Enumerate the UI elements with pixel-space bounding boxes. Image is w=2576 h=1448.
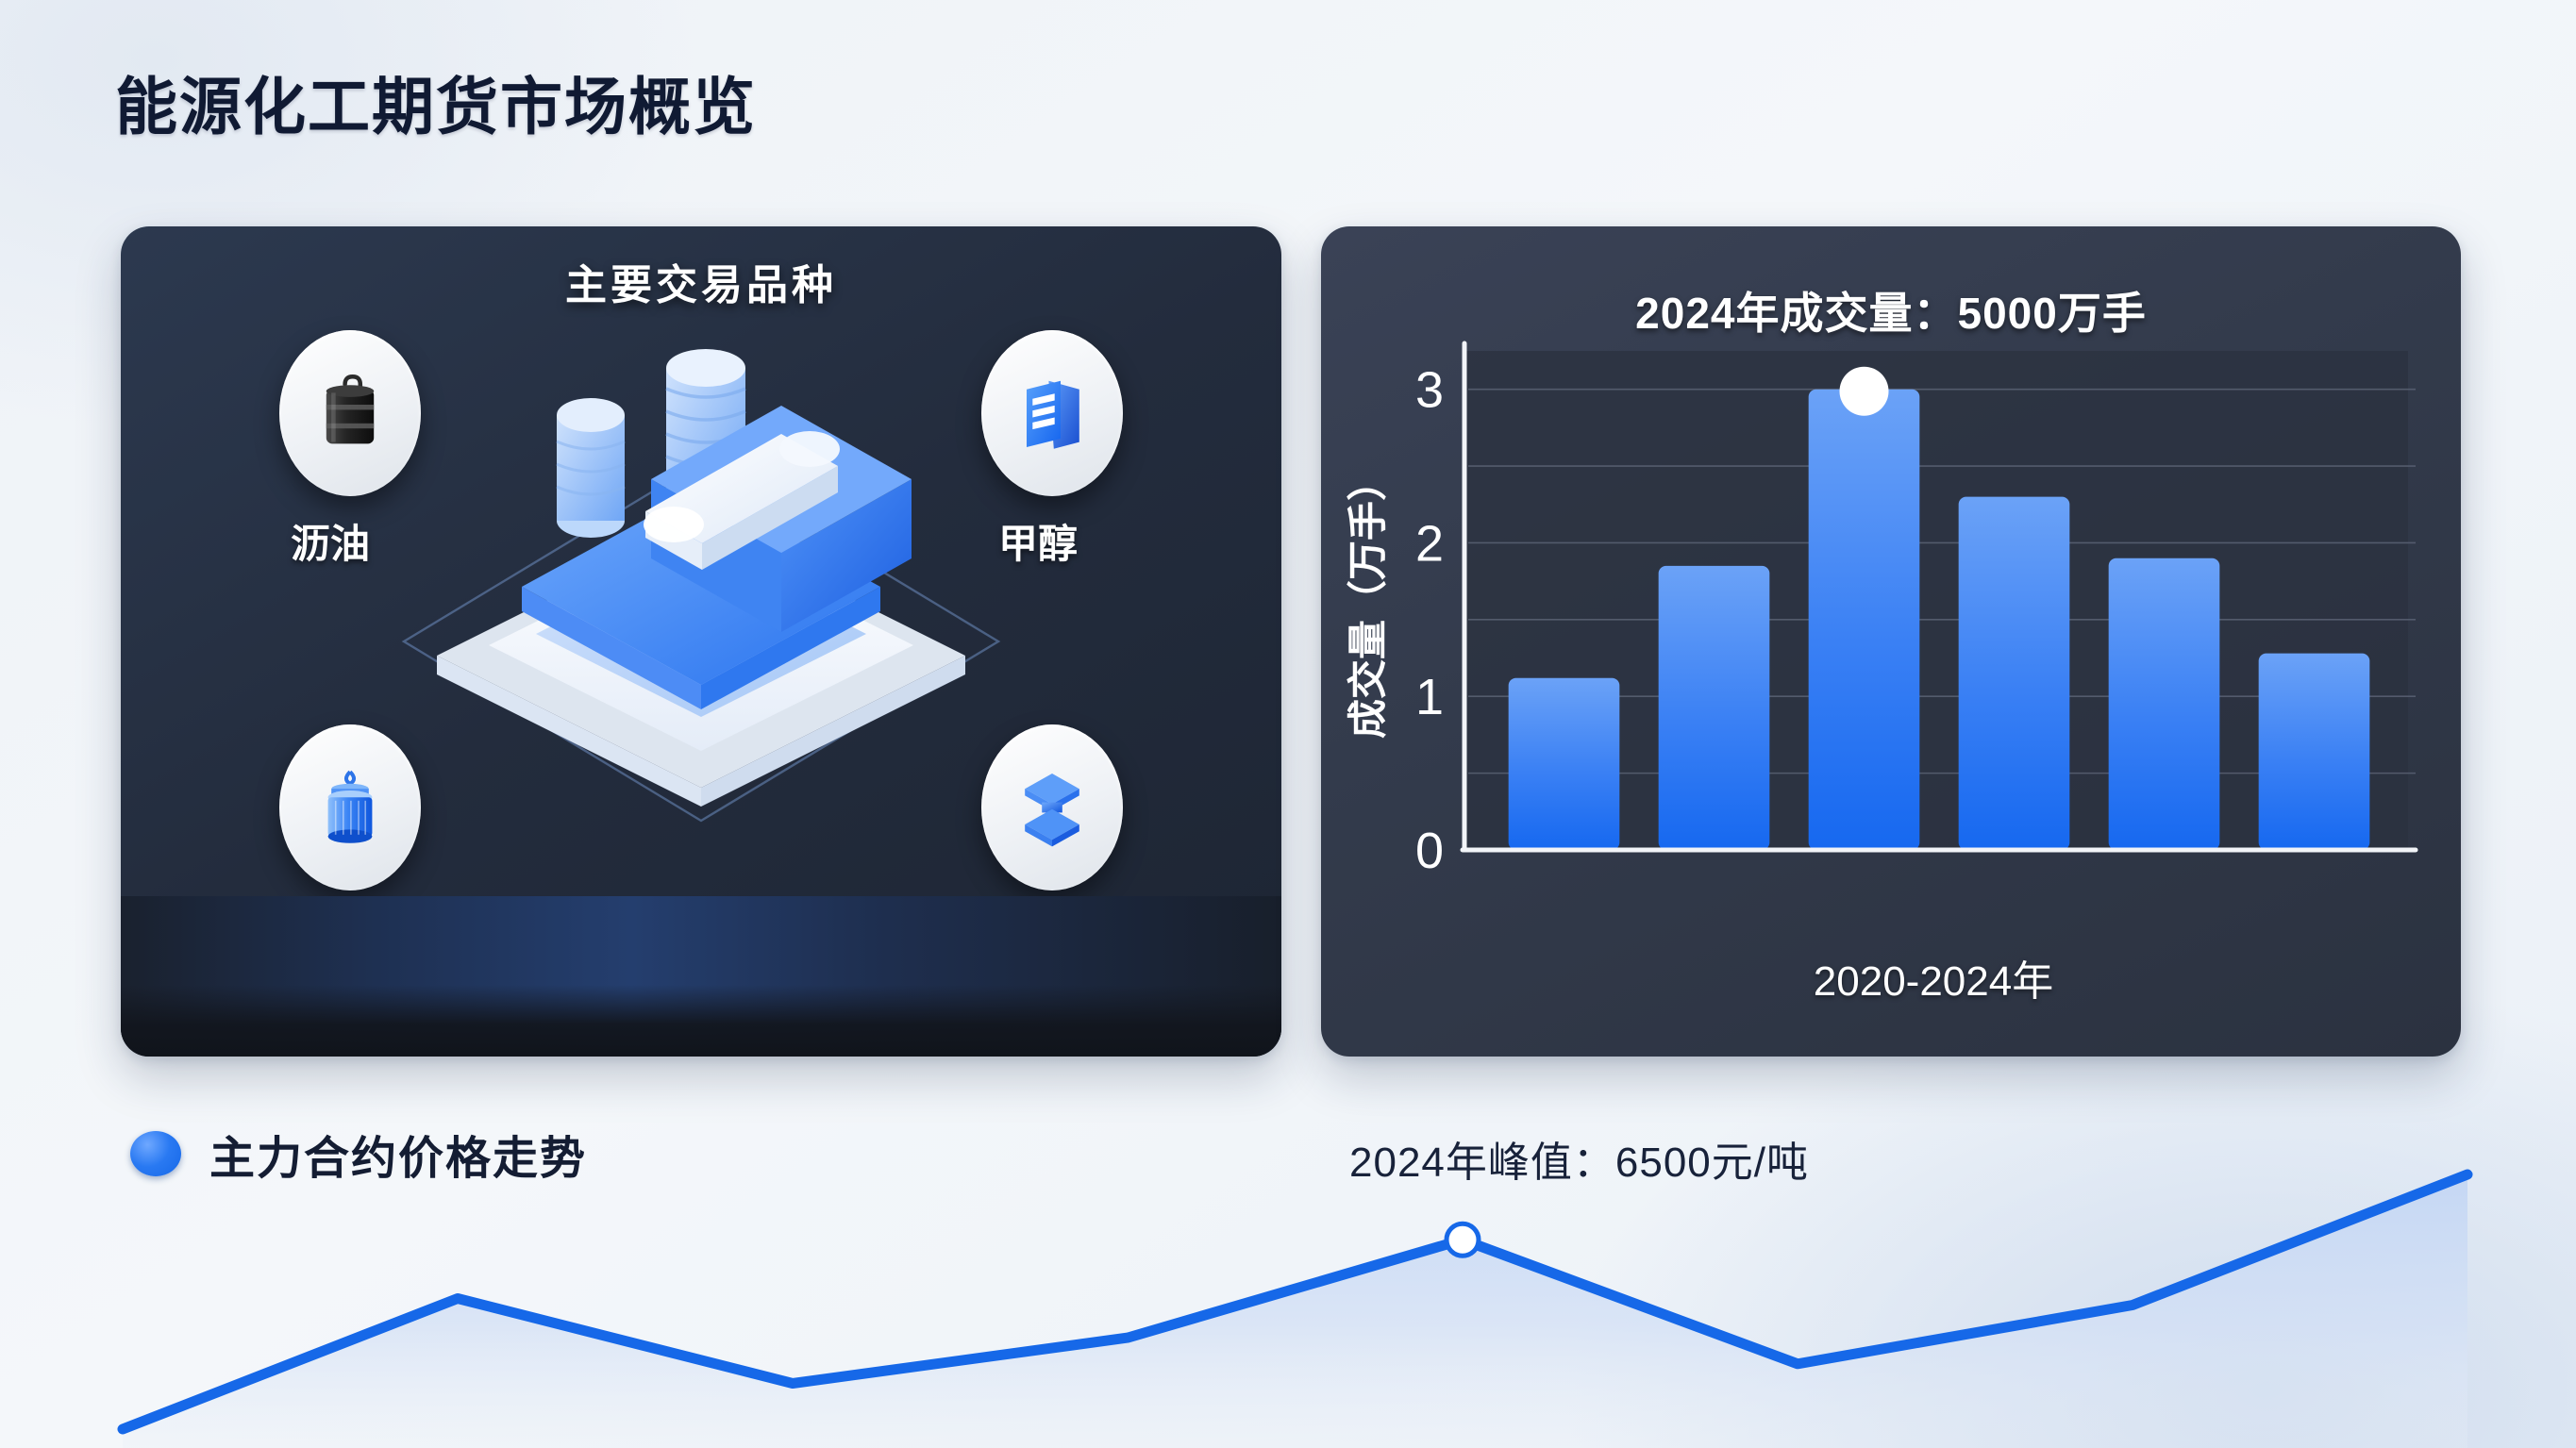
product-label-methanol: 甲醇 <box>998 512 1078 570</box>
volume-chart-card: 2024年成交量：5000万手 0123 成交量（万手） 2020-2024年 <box>1321 226 2461 1057</box>
storage-tank-icon <box>308 765 393 850</box>
cards-row: 沥油 甲醇 <box>121 226 2461 1057</box>
volume-bar-chart[interactable]: 0123 成交量（万手） <box>1321 340 2459 924</box>
svg-text:2: 2 <box>1415 515 1444 572</box>
products-caption-band <box>121 896 1281 1057</box>
stacked-plates-icon <box>1010 765 1095 850</box>
trend-peak-marker <box>1447 1223 1479 1256</box>
page-title: 能源化工期货市场概览 <box>115 57 757 147</box>
bar-2021[interactable] <box>1659 566 1770 850</box>
volume-chart-title: 2024年成交量：5000万手 <box>1321 279 2461 341</box>
bar-2025[interactable] <box>2259 654 2370 850</box>
bar-2022[interactable] <box>1809 390 1920 850</box>
bar-2024[interactable] <box>2109 558 2220 850</box>
peak-value-marker <box>1840 367 1889 416</box>
svg-text:1: 1 <box>1415 669 1444 725</box>
y-axis-label: 成交量（万手） <box>1346 461 1390 739</box>
major-products-card: 沥油 甲醇 <box>121 226 1281 1057</box>
y-axis-tick-labels: 0123 <box>1415 362 1444 879</box>
product-label-oil: 沥油 <box>291 512 370 570</box>
svg-text:3: 3 <box>1415 362 1444 419</box>
volume-chart-xlabel: 2020-2024年 <box>1406 947 2461 1007</box>
bar-2023[interactable] <box>1959 497 2070 850</box>
svg-text:0: 0 <box>1415 823 1444 879</box>
price-trend-chart[interactable] <box>0 1146 2576 1448</box>
product-icon-bubble-methanol[interactable] <box>981 330 1123 496</box>
bar-2020[interactable] <box>1509 678 1620 850</box>
document-icon <box>1010 371 1095 456</box>
oil-barrel-icon <box>308 371 393 456</box>
product-icon-bubble-pvc[interactable] <box>981 724 1123 890</box>
products-caption: 主要交易品种 <box>121 251 1281 311</box>
product-icon-bubble-oil[interactable] <box>279 330 421 496</box>
product-icon-bubble-category[interactable] <box>279 724 421 890</box>
